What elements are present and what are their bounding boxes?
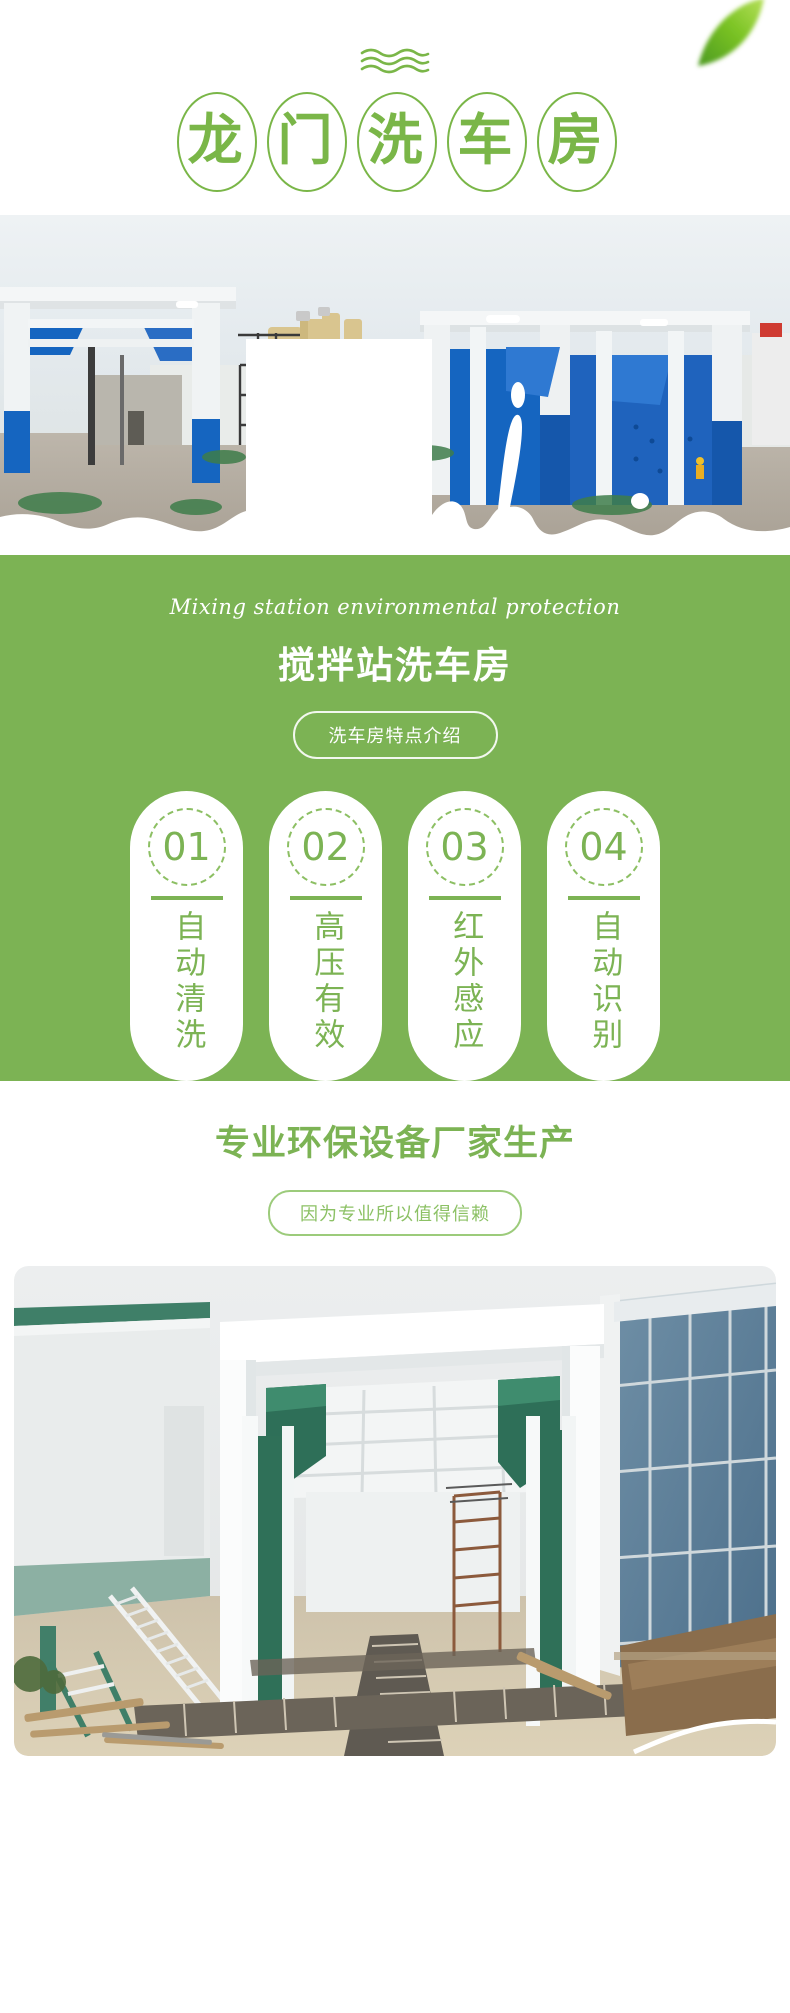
bottom-photo <box>0 1244 790 1806</box>
feature-card-04[interactable]: 04 自动识别 <box>547 791 660 1081</box>
feature-card-02[interactable]: 02 高压有效 <box>269 791 382 1081</box>
title-char-5-text: 房 <box>547 113 602 168</box>
feature-card-01[interactable]: 01 自动清洗 <box>130 791 243 1081</box>
feature-number-badge-04: 04 <box>565 808 643 886</box>
feature-number-03: 03 <box>440 828 488 866</box>
feature-divider-04 <box>568 896 640 900</box>
promo-trust-pill: 因为专业所以值得信赖 <box>268 1190 522 1236</box>
title-char-4: 车 <box>441 92 529 188</box>
feature-divider-02 <box>290 896 362 900</box>
product-detail-page: 龙 门 洗 车 房 <box>0 0 790 1806</box>
promo-section: 专业环保设备厂家生产 因为专业所以值得信赖 <box>0 1081 790 1244</box>
feature-number-badge-03: 03 <box>426 808 504 886</box>
script-subtitle: Mixing station environmental protection <box>0 595 790 619</box>
title-char-3-text: 洗 <box>367 113 422 168</box>
wave-lines-icon <box>359 48 431 79</box>
feature-intro-pill: 洗车房特点介绍 <box>293 711 498 759</box>
feature-label-02: 高压有效 <box>309 910 342 1054</box>
feature-card-03[interactable]: 03 红外感应 <box>408 791 521 1081</box>
hero-photo <box>0 215 790 555</box>
title-char-5: 房 <box>531 92 619 188</box>
feature-number-02: 02 <box>301 828 349 866</box>
title-char-2: 门 <box>261 92 349 188</box>
feature-number-badge-02: 02 <box>287 808 365 886</box>
title-char-2-text: 门 <box>277 113 332 168</box>
leaf-icon <box>686 0 772 78</box>
feature-number-01: 01 <box>162 828 210 866</box>
title-char-1-text: 龙 <box>187 113 242 168</box>
section-heading: 搅拌站洗车房 <box>0 635 790 689</box>
feature-number-badge-01: 01 <box>148 808 226 886</box>
feature-card-list: 01 自动清洗 02 高压有效 03 红外感应 <box>0 791 790 1081</box>
title-char-3: 洗 <box>351 92 439 188</box>
green-feature-panel: Mixing station environmental protection … <box>0 555 790 1081</box>
feature-number-04: 04 <box>579 828 627 866</box>
title-char-1: 龙 <box>171 92 259 188</box>
feature-divider-03 <box>429 896 501 900</box>
promo-title: 专业环保设备厂家生产 <box>0 1115 790 1166</box>
feature-label-03: 红外感应 <box>448 910 481 1054</box>
page-header: 龙 门 洗 车 房 <box>0 0 790 215</box>
page-title: 龙 门 洗 车 房 <box>0 92 790 188</box>
feature-label-04: 自动识别 <box>587 910 620 1054</box>
title-char-4-text: 车 <box>457 113 512 168</box>
feature-label-01: 自动清洗 <box>170 910 203 1054</box>
feature-divider-01 <box>151 896 223 900</box>
